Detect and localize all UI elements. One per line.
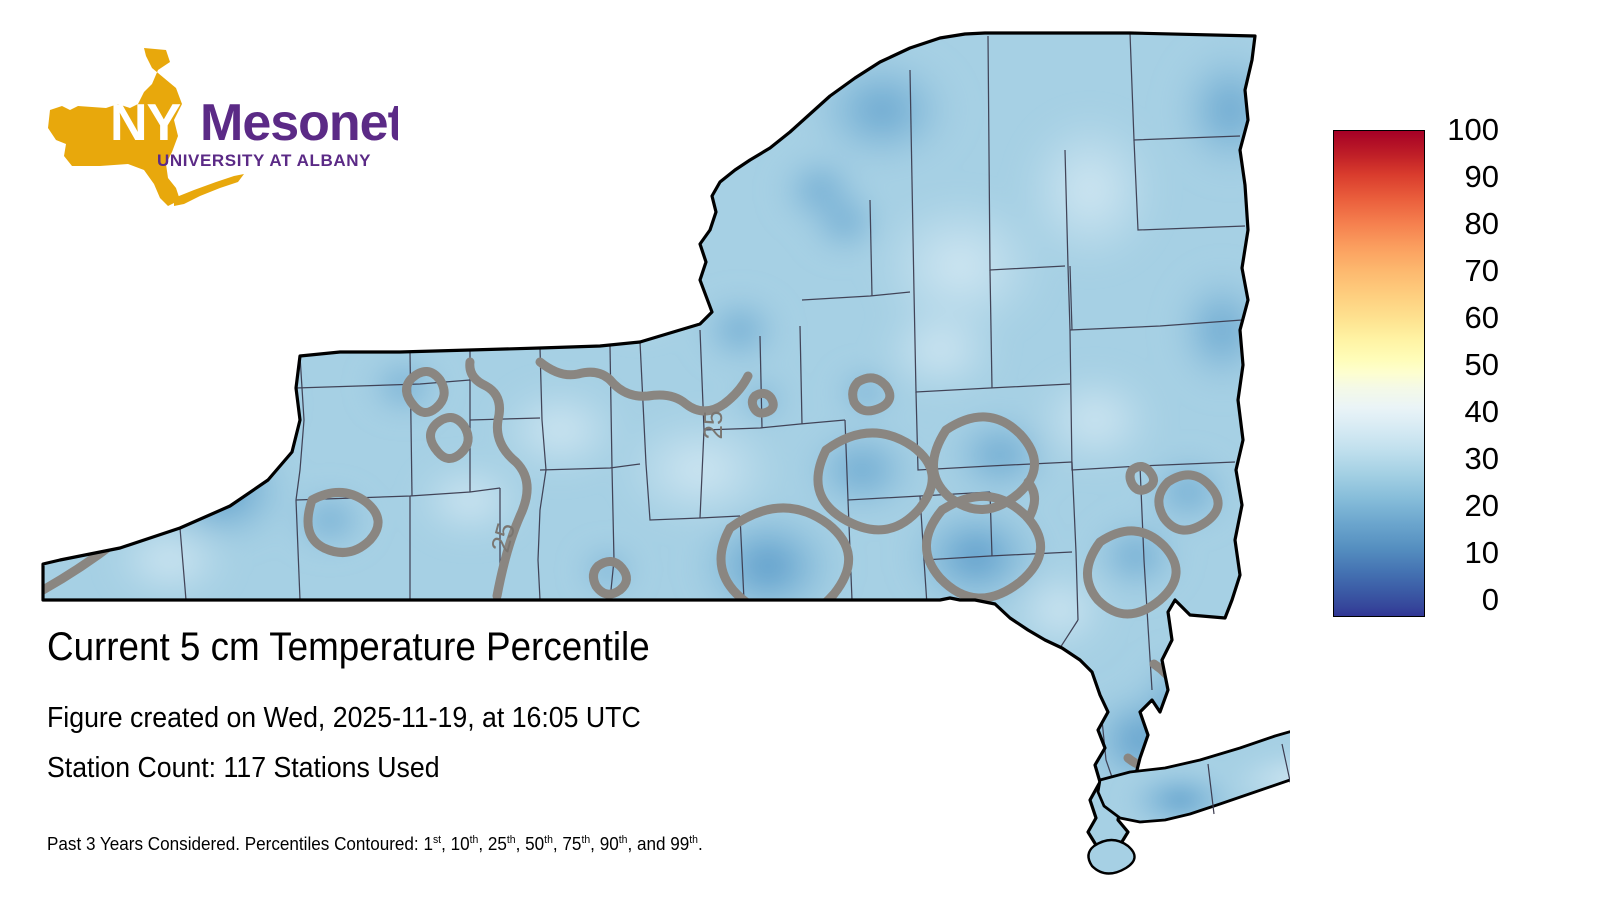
colorbar-tick-0: 0 — [1437, 584, 1499, 615]
colorbar-gradient — [1333, 130, 1425, 617]
percentile-footnote: Past 3 Years Considered. Percentiles Con… — [47, 829, 703, 855]
logo-tagline: UNIVERSITY AT ALBANY — [157, 151, 371, 170]
station-count-text: Station Count: 117 Stations Used — [47, 752, 440, 784]
logo-mesonet-text: Mesonet — [200, 94, 398, 152]
colorbar-tick-50: 50 — [1437, 349, 1499, 380]
colorbar-tick-10: 10 — [1437, 537, 1499, 568]
svg-text:NYS: NYS — [110, 94, 214, 152]
figure-root: 25 25 — [0, 0, 1600, 900]
figure-created-text: Figure created on Wed, 2025-11-19, at 16… — [47, 702, 641, 734]
colorbar-tick-70: 70 — [1437, 255, 1499, 286]
nys-mesonet-logo[interactable]: NYS Mesonet UNIVERSITY AT ALBANY — [48, 48, 398, 208]
colorbar-tick-labels: 100 90 80 70 60 50 40 30 20 10 0 — [1437, 130, 1499, 617]
colorbar-tick-30: 30 — [1437, 443, 1499, 474]
colorbar-tick-80: 80 — [1437, 208, 1499, 239]
svg-text:Mesonet: Mesonet — [200, 94, 398, 152]
colorbar-tick-60: 60 — [1437, 302, 1499, 333]
contour-label-25-upper: 25 — [698, 411, 728, 440]
colorbar-tick-40: 40 — [1437, 396, 1499, 427]
colorbar-tick-20: 20 — [1437, 490, 1499, 521]
svg-text:UNIVERSITY AT ALBANY: UNIVERSITY AT ALBANY — [157, 151, 371, 170]
logo-nys-text: NYS — [110, 94, 214, 152]
figure-title: Current 5 cm Temperature Percentile — [47, 625, 650, 669]
colorbar-tick-90: 90 — [1437, 161, 1499, 192]
colorbar[interactable] — [1333, 130, 1425, 617]
logo-long-island-shape — [174, 174, 244, 206]
colorbar-tick-100: 100 — [1437, 114, 1499, 145]
staten-island-outline — [1088, 840, 1134, 874]
